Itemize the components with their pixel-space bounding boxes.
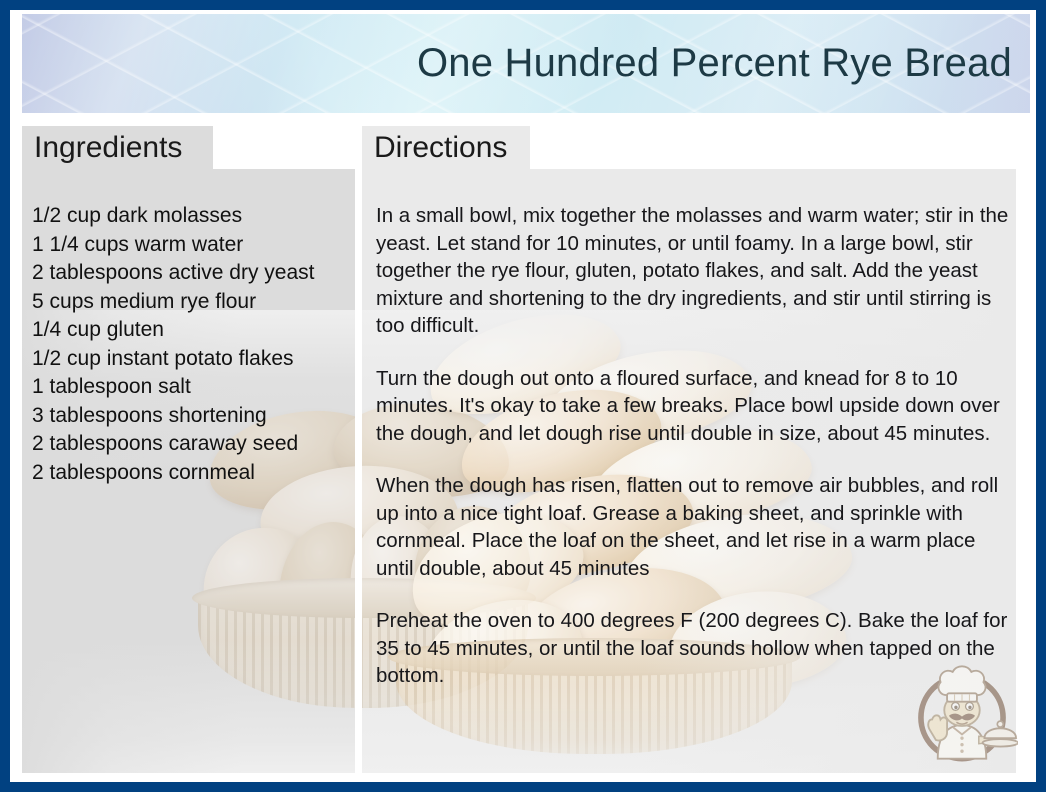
- list-item: 1 1/4 cups warm water: [32, 231, 352, 260]
- title-banner: One Hundred Percent Rye Bread: [22, 14, 1030, 113]
- direction-step: In a small bowl, mix together the molass…: [376, 202, 1010, 340]
- list-item: 1/4 cup gluten: [32, 316, 352, 345]
- list-item: 1/2 cup dark molasses: [32, 202, 352, 231]
- list-item: 3 tablespoons shortening: [32, 402, 352, 431]
- direction-step: When the dough has risen, flatten out to…: [376, 472, 1010, 582]
- ingredients-heading-tab: Ingredients: [22, 126, 213, 169]
- list-item: 2 tablespoons active dry yeast: [32, 259, 352, 288]
- list-item: 5 cups medium rye flour: [32, 288, 352, 317]
- recipe-card: One Hundred Percent Rye Bread: [0, 0, 1046, 792]
- ingredients-heading-label: Ingredients: [34, 131, 182, 165]
- directions-heading-tab: Directions: [362, 126, 530, 169]
- directions-heading-label: Directions: [374, 131, 507, 165]
- list-item: 2 tablespoons cornmeal: [32, 459, 352, 488]
- directions-steps: In a small bowl, mix together the molass…: [376, 202, 1010, 690]
- card-inner-surface: One Hundred Percent Rye Bread: [10, 10, 1036, 782]
- direction-step: Preheat the oven to 400 degrees F (200 d…: [376, 607, 1010, 690]
- list-item: 1/2 cup instant potato flakes: [32, 345, 352, 374]
- list-item: 1 tablespoon salt: [32, 373, 352, 402]
- ingredients-list: 1/2 cup dark molasses 1 1/4 cups warm wa…: [32, 202, 352, 487]
- page-title: One Hundred Percent Rye Bread: [417, 41, 1012, 86]
- direction-step: Turn the dough out onto a floured surfac…: [376, 365, 1010, 448]
- panel-divider: [355, 169, 362, 773]
- list-item: 2 tablespoons caraway seed: [32, 430, 352, 459]
